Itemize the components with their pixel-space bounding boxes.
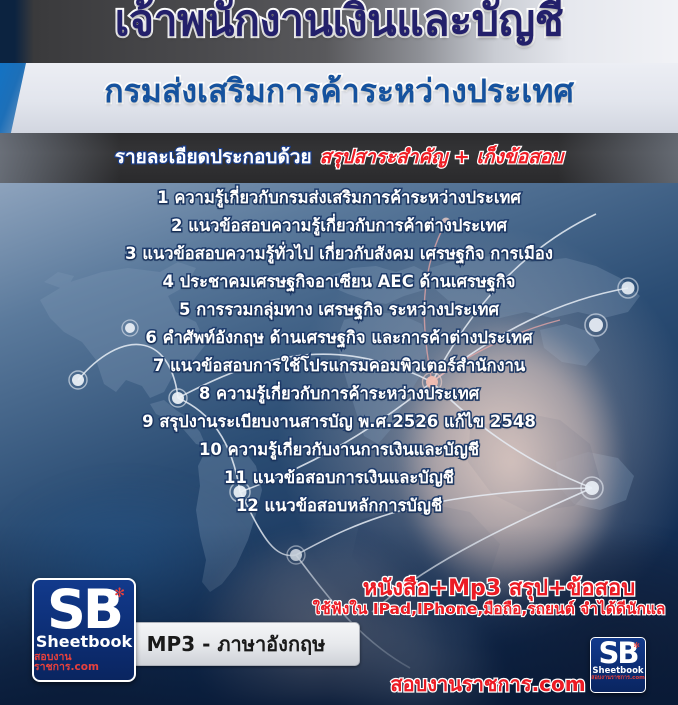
logo-subtext: สอบงานราชการ.com bbox=[591, 676, 645, 682]
list-item: 8 ความรู้เกี่ยวกับการค้าระหว่างประเทศ bbox=[0, 386, 678, 414]
list-item: 9 สรุปงานระเบียบงานสารบัญ พ.ศ.2526 แก้ไข… bbox=[0, 414, 678, 442]
poster-root: เจ้าพนักงานเงินและบัญชี กรมส่งเสริมการค้… bbox=[0, 0, 678, 705]
topic-list: 1 ความรู้เกี่ยวกับกรมส่งเสริมการค้าระหว่… bbox=[0, 190, 678, 526]
list-item: 1 ความรู้เกี่ยวกับกรมส่งเสริมการค้าระหว่… bbox=[0, 190, 678, 218]
list-item: 7 แนวข้อสอบการใช้โปรแกรมคอมพิวเตอร์สำนัก… bbox=[0, 358, 678, 386]
logo-name: Sheetbook bbox=[592, 667, 643, 676]
page-subtitle: กรมส่งเสริมการค้าระหว่างประเทศ bbox=[0, 68, 678, 114]
logo-name: Sheetbook bbox=[36, 634, 132, 650]
mp3-label-box: MP3 - ภาษาอังกฤษ bbox=[112, 622, 360, 666]
logo-subtext: สอบงานราชการ.com bbox=[34, 652, 134, 673]
list-item: 5 การรวมกลุ่มทาง เศรษฐกิจ ระหว่างประเทศ bbox=[0, 302, 678, 330]
list-item: 10 ความรู้เกี่ยวกับงานการเงินและบัญชี bbox=[0, 442, 678, 470]
list-item: 6 คำศัพท์อังกฤษ ด้านเศรษฐกิจ และการค้าต่… bbox=[0, 330, 678, 358]
list-item: 11 แนวข้อสอบการเงินและบัญชี bbox=[0, 470, 678, 498]
sheetbook-logo-small: ✻ SB Sheetbook สอบงานราชการ.com bbox=[590, 637, 646, 693]
list-item: 4 ประชาคมเศรษฐกิจอาเซียน AEC ด้านเศรษฐกิ… bbox=[0, 274, 678, 302]
detail-highlight-text: สรุปสาระสำคัญ + เก็งข้อสอบ bbox=[320, 146, 564, 168]
list-item: 2 แนวข้อสอบความรู้เกี่ยวกับการค้าต่างประ… bbox=[0, 218, 678, 246]
logo-monogram: SB bbox=[599, 641, 638, 666]
page-title: เจ้าพนักงานเงินและบัญชี bbox=[0, 0, 678, 52]
detail-line: รายละเอียดประกอบด้วยสรุปสาระสำคัญ + เก็ง… bbox=[0, 143, 678, 172]
detail-prefix-text: รายละเอียดประกอบด้วย bbox=[115, 146, 312, 168]
list-item: 12 แนวข้อสอบหลักการบัญชี bbox=[0, 498, 678, 526]
logo-flag-icon: ✻ bbox=[633, 642, 640, 650]
promo-subline: ใช้ฟังใน IPad,IPhone,มือถือ,รถยนต์ จำได้… bbox=[300, 596, 678, 621]
website-text: สอบงานราชการ.com bbox=[390, 668, 586, 700]
mp3-label-text: MP3 - ภาษาอังกฤษ bbox=[147, 628, 326, 660]
list-item: 3 แนวข้อสอบความรู้ทั่วไป เกี่ยวกับสังคม … bbox=[0, 246, 678, 274]
logo-flag-icon: ✻ bbox=[114, 587, 125, 600]
logo-monogram: SB bbox=[47, 587, 121, 633]
sheetbook-logo: ✻ SB Sheetbook สอบงานราชการ.com bbox=[32, 578, 136, 682]
